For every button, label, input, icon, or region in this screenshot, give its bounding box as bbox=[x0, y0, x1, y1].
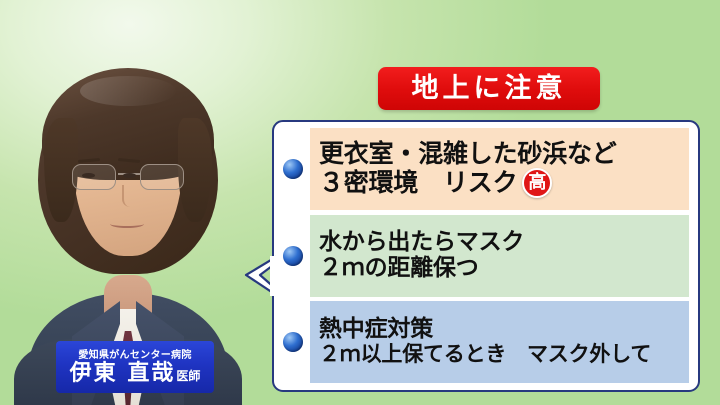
advice-line: ２ｍ以上保てるとき マスク外して bbox=[319, 343, 681, 367]
nose bbox=[122, 185, 135, 207]
blue-sphere-bullet-icon bbox=[283, 246, 303, 266]
advice-line: 熱中症対策 bbox=[319, 317, 681, 343]
mouth bbox=[110, 220, 144, 228]
risk-level-badge: 高 bbox=[522, 168, 552, 198]
advice-line-risk: ３密環境 リスク 高 bbox=[319, 168, 681, 198]
news-graphic-stage: 愛知県がんセンター病院 伊東 直哉 医師 地上に注意 更衣室・混雑した砂浜など … bbox=[0, 0, 720, 405]
headline-banner: 地上に注意 bbox=[378, 67, 600, 110]
speaker-affiliation: 愛知県がんセンター病院 bbox=[78, 350, 191, 361]
advice-panel-mask: 水から出たらマスク ２ｍの距離保つ bbox=[310, 215, 689, 297]
headline-text: 地上に注意 bbox=[412, 75, 567, 102]
eye-left bbox=[82, 173, 95, 178]
speech-bubble-tail bbox=[240, 255, 276, 297]
blue-sphere-bullet-icon bbox=[283, 332, 303, 352]
advice-row: 更衣室・混雑した砂浜など ３密環境 リスク 高 bbox=[283, 128, 689, 210]
advice-line: ２ｍの距離保つ bbox=[319, 256, 681, 282]
speech-bubble: 更衣室・混雑した砂浜など ３密環境 リスク 高 水から出たらマスク ２ｍの距離保… bbox=[272, 120, 700, 392]
advice-panel-risk: 更衣室・混雑した砂浜など ３密環境 リスク 高 bbox=[310, 128, 689, 210]
advice-line: 水から出たらマスク bbox=[319, 230, 681, 256]
blue-sphere-bullet-icon bbox=[283, 159, 303, 179]
speaker-name-caption: 愛知県がんセンター病院 伊東 直哉 医師 bbox=[56, 341, 214, 393]
advice-line: 更衣室・混雑した砂浜など bbox=[319, 140, 681, 168]
speaker-name: 伊東 直哉 bbox=[70, 363, 176, 385]
speaker-name-line: 伊東 直哉 医師 bbox=[70, 363, 201, 385]
advice-row: 水から出たらマスク ２ｍの距離保つ bbox=[283, 215, 689, 297]
advice-row: 熱中症対策 ２ｍ以上保てるとき マスク外して bbox=[283, 301, 689, 383]
advice-panel-heatstroke: 熱中症対策 ２ｍ以上保てるとき マスク外して bbox=[310, 301, 689, 383]
speaker-title-suffix: 医師 bbox=[176, 370, 200, 382]
advice-line: ３密環境 リスク bbox=[319, 169, 517, 197]
eye-right bbox=[123, 173, 136, 178]
